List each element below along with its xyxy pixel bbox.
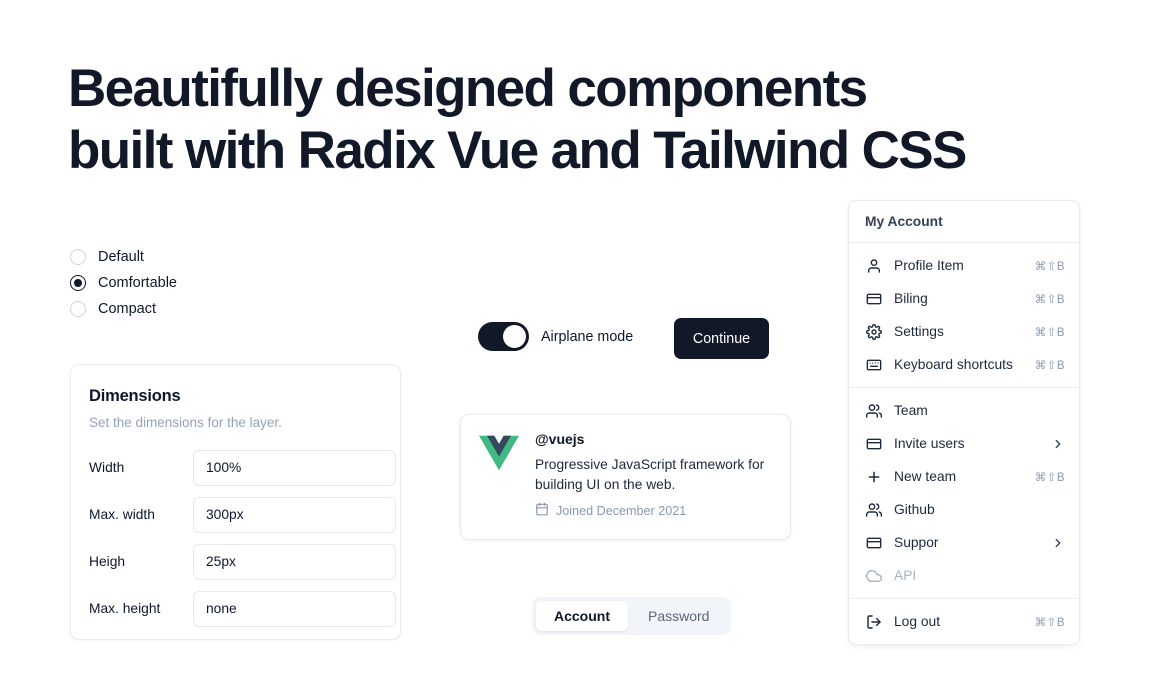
menu-item-shortcut: ⌘⇧B xyxy=(1035,615,1065,629)
users-icon xyxy=(865,402,882,419)
radio-indicator-icon[interactable] xyxy=(70,275,86,291)
chevron-right-icon xyxy=(1051,536,1065,550)
menu-item-label: Profile Item xyxy=(894,258,1023,273)
account-dropdown-menu: My Account Profile Item ⌘⇧B Biling ⌘⇧B S… xyxy=(848,200,1080,645)
field-label: Max. width xyxy=(89,507,193,522)
dimensions-field-list: Width Max. width Heigh Max. height xyxy=(89,444,378,632)
menu-item-label: Settings xyxy=(894,324,1023,339)
menu-item-shortcut: ⌘⇧B xyxy=(1035,358,1065,372)
radio-option-comfortable[interactable]: Comfortable xyxy=(70,274,177,292)
menu-header: My Account xyxy=(849,201,1079,242)
vue-joined-text: Joined December 2021 xyxy=(556,504,686,518)
menu-item-profile[interactable]: Profile Item ⌘⇧B xyxy=(849,249,1079,282)
radio-indicator-icon[interactable] xyxy=(70,249,86,265)
gear-icon xyxy=(865,323,882,340)
radio-option-label: Default xyxy=(98,250,144,265)
vue-profile-card: @vuejs Progressive JavaScript framework … xyxy=(460,414,791,540)
menu-item-label: Suppor xyxy=(894,535,1039,550)
menu-item-label: Log out xyxy=(894,614,1023,629)
user-icon xyxy=(865,257,882,274)
credit-card-icon xyxy=(865,435,882,452)
radio-indicator-icon[interactable] xyxy=(70,301,86,317)
tab-account[interactable]: Account xyxy=(536,601,628,631)
hero-section: Beautifully designed components built wi… xyxy=(68,58,1028,182)
max-width-input[interactable] xyxy=(193,497,396,533)
field-row-height: Heigh xyxy=(89,538,378,585)
max-height-input[interactable] xyxy=(193,591,396,627)
dimensions-card-title: Dimensions xyxy=(89,387,378,406)
menu-item-billing[interactable]: Biling ⌘⇧B xyxy=(849,282,1079,315)
field-row-max-height: Max. height xyxy=(89,585,378,632)
page-title: Beautifully designed components built wi… xyxy=(68,58,1028,182)
menu-item-support[interactable]: Suppor xyxy=(849,526,1079,559)
menu-item-new-team[interactable]: New team ⌘⇧B xyxy=(849,460,1079,493)
menu-group-account: Profile Item ⌘⇧B Biling ⌘⇧B Settings ⌘⇧B… xyxy=(849,243,1079,387)
radio-option-label: Compact xyxy=(98,302,156,317)
airplane-mode-row: Airplane mode xyxy=(478,322,633,351)
height-input[interactable] xyxy=(193,544,396,580)
users-icon xyxy=(865,501,882,518)
credit-card-icon xyxy=(865,534,882,551)
page-title-line-2: built with Radix Vue and Tailwind CSS xyxy=(68,121,966,180)
menu-group-team: Team Invite users New team ⌘⇧B Github xyxy=(849,388,1079,598)
credit-card-icon xyxy=(865,290,882,307)
dimensions-card: Dimensions Set the dimensions for the la… xyxy=(70,364,401,640)
menu-item-settings[interactable]: Settings ⌘⇧B xyxy=(849,315,1079,348)
chevron-right-icon xyxy=(1051,437,1065,451)
menu-item-shortcut: ⌘⇧B xyxy=(1035,470,1065,484)
page-title-line-1: Beautifully designed components xyxy=(68,59,867,118)
menu-item-label: New team xyxy=(894,469,1023,484)
continue-button[interactable]: Continue xyxy=(674,318,769,359)
airplane-mode-switch[interactable] xyxy=(478,322,529,351)
menu-item-shortcut: ⌘⇧B xyxy=(1035,292,1065,306)
calendar-icon xyxy=(535,502,549,519)
logout-icon xyxy=(865,613,882,630)
dimensions-card-subtitle: Set the dimensions for the layer. xyxy=(89,415,378,430)
radio-option-default[interactable]: Default xyxy=(70,248,177,266)
vue-logo-icon xyxy=(479,433,519,473)
menu-item-github[interactable]: Github xyxy=(849,493,1079,526)
menu-item-shortcut: ⌘⇧B xyxy=(1035,259,1065,273)
menu-item-label: Keyboard shortcuts xyxy=(894,357,1023,372)
keyboard-icon xyxy=(865,356,882,373)
field-label: Heigh xyxy=(89,554,193,569)
menu-item-api: API xyxy=(849,559,1079,592)
menu-group-session: Log out ⌘⇧B xyxy=(849,599,1079,644)
plus-icon xyxy=(865,468,882,485)
field-row-max-width: Max. width xyxy=(89,491,378,538)
settings-tabs: Account Password xyxy=(532,597,731,635)
menu-item-label: Team xyxy=(894,403,1053,418)
field-label: Max. height xyxy=(89,601,193,616)
menu-item-label: Biling xyxy=(894,291,1023,306)
radio-option-compact[interactable]: Compact xyxy=(70,300,177,318)
vue-joined-row: Joined December 2021 xyxy=(535,502,772,519)
vue-card-body: @vuejs Progressive JavaScript framework … xyxy=(535,431,772,523)
radio-group: Default Comfortable Compact xyxy=(70,248,177,318)
cloud-icon xyxy=(865,567,882,584)
field-label: Width xyxy=(89,460,193,475)
menu-item-label: Github xyxy=(894,502,1053,517)
vue-description: Progressive JavaScript framework for bui… xyxy=(535,455,772,495)
switch-knob-icon xyxy=(503,325,526,348)
menu-item-keyboard-shortcuts[interactable]: Keyboard shortcuts ⌘⇧B xyxy=(849,348,1079,381)
menu-item-team[interactable]: Team xyxy=(849,394,1079,427)
airplane-mode-label: Airplane mode xyxy=(541,329,633,345)
width-input[interactable] xyxy=(193,450,396,486)
menu-item-log-out[interactable]: Log out ⌘⇧B xyxy=(849,605,1079,638)
menu-item-invite-users[interactable]: Invite users xyxy=(849,427,1079,460)
menu-item-shortcut: ⌘⇧B xyxy=(1035,325,1065,339)
menu-item-label: API xyxy=(894,568,1053,583)
tab-password[interactable]: Password xyxy=(630,601,727,631)
vue-handle: @vuejs xyxy=(535,431,772,447)
radio-option-label: Comfortable xyxy=(98,276,177,291)
menu-item-label: Invite users xyxy=(894,436,1039,451)
field-row-width: Width xyxy=(89,444,378,491)
